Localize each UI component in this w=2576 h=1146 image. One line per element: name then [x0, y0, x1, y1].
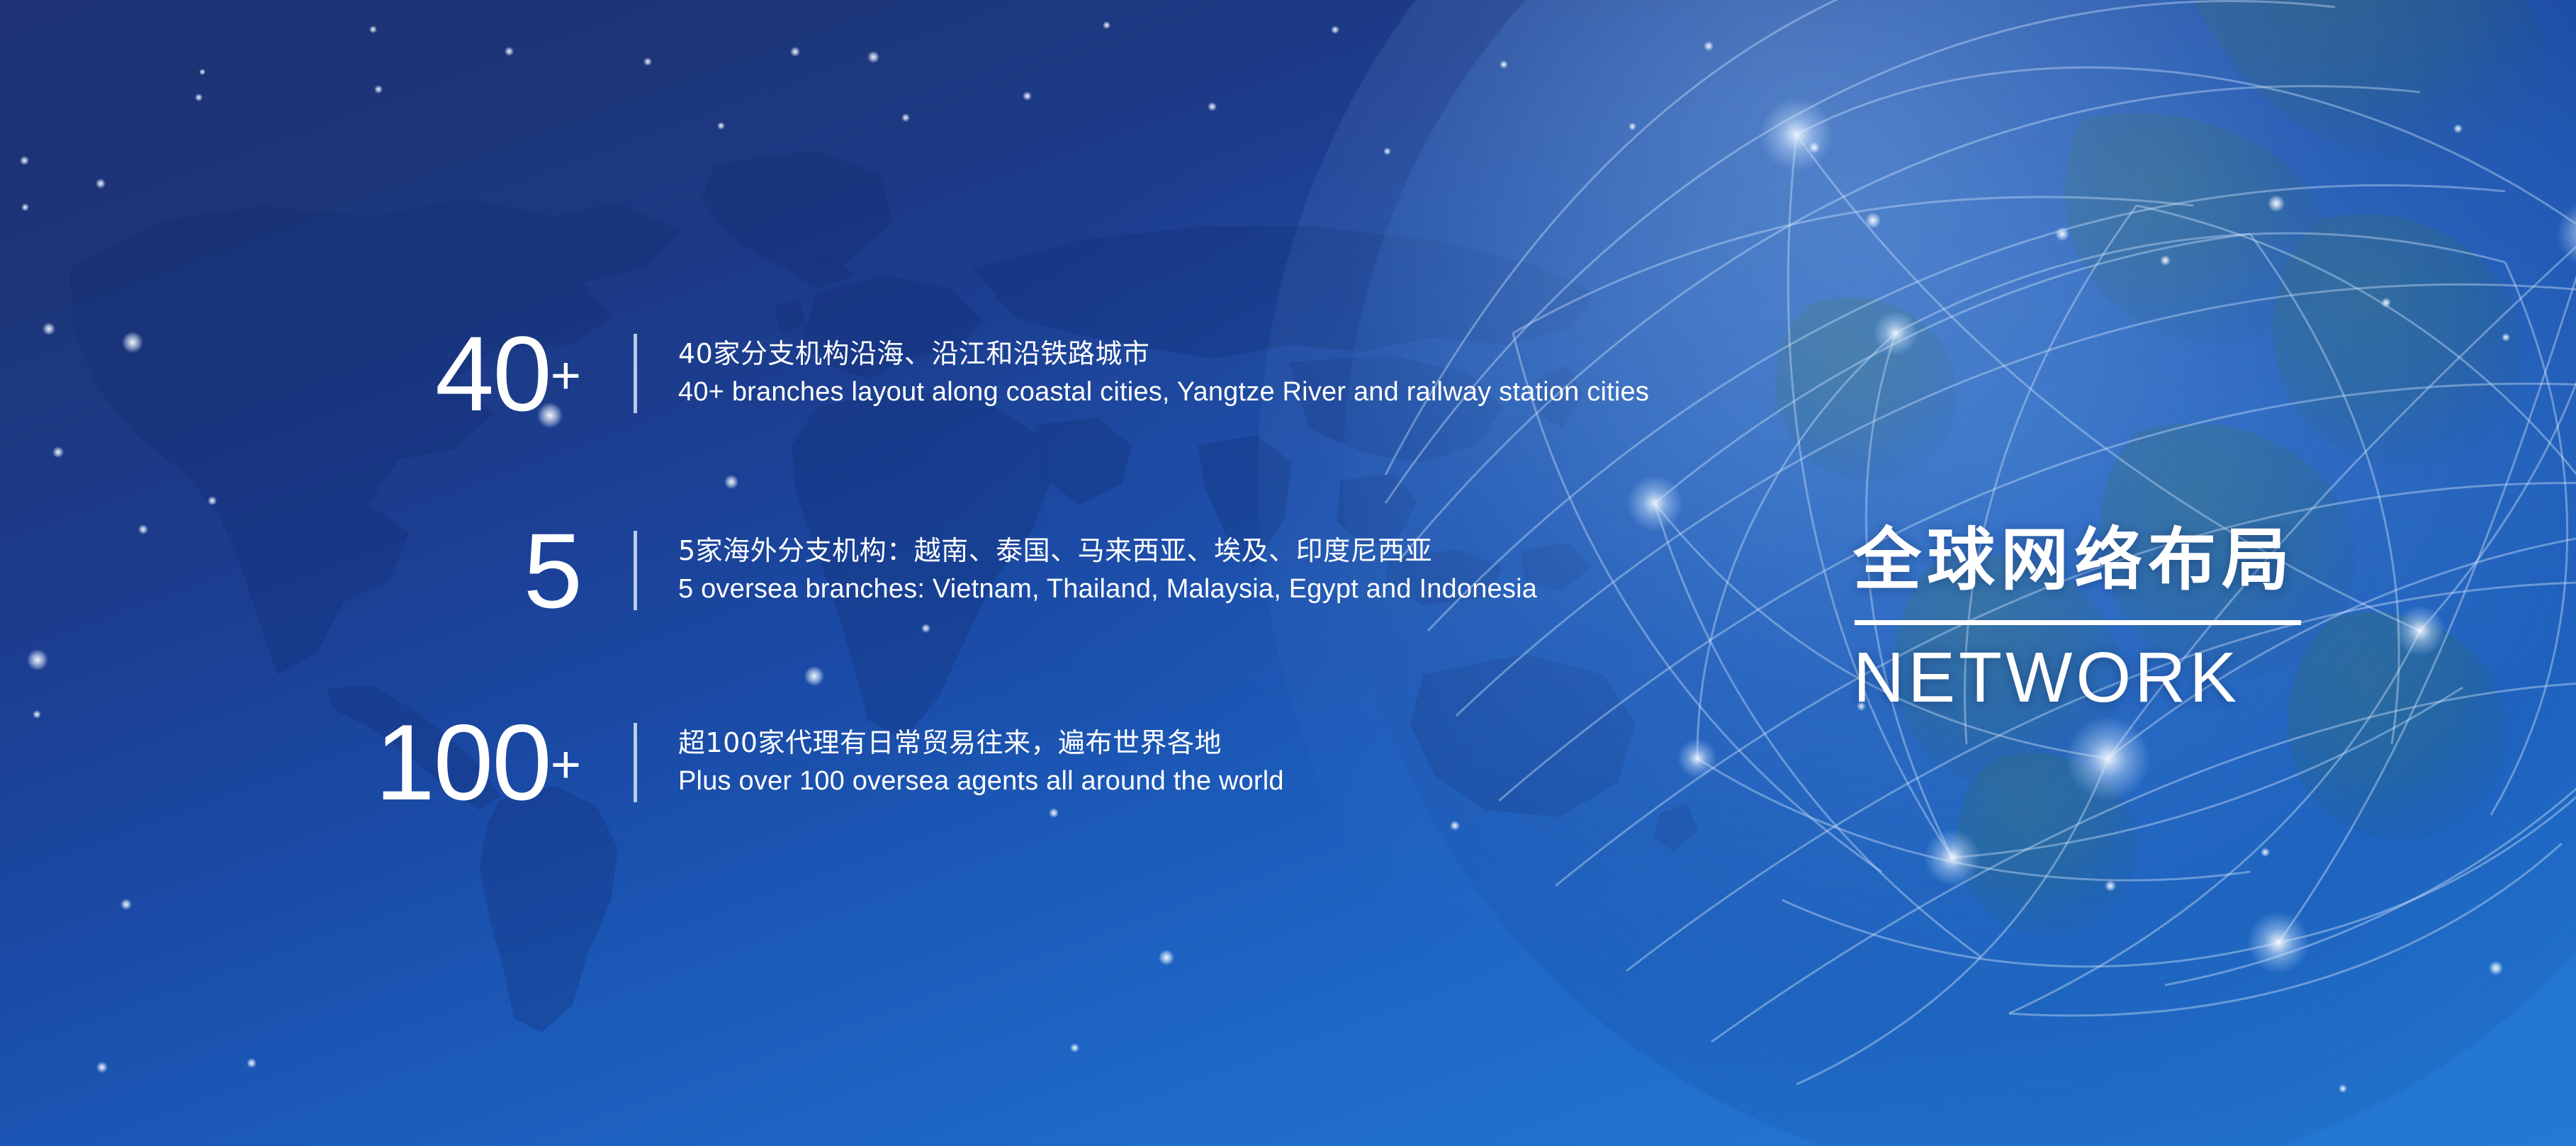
- banner-title-block: 全球网络布局 NETWORK: [1853, 524, 2491, 715]
- stat-text-en: 40+ branches layout along coastal cities…: [678, 373, 1649, 412]
- page-title-en: NETWORK: [1853, 641, 2491, 715]
- statistics-list: 40+ 40家分支机构沿海、沿江和沿铁路城市 40+ branches layo…: [0, 0, 1630, 1146]
- stat-text-oversea-branches: 5家海外分支机构：越南、泰国、马来西亚、埃及、印度尼西亚 5 oversea b…: [678, 532, 1537, 609]
- stat-number-5: 5: [149, 517, 581, 624]
- stat-item-oversea-branches: 5 5家海外分支机构：越南、泰国、马来西亚、埃及、印度尼西亚 5 oversea…: [149, 517, 1537, 624]
- stat-item-agents: 100+ 超100家代理有日常贸易往来，遍布世界各地 Plus over 100…: [149, 709, 1284, 816]
- stat-divider: [634, 531, 637, 610]
- stat-text-cn: 5家海外分支机构：越南、泰国、马来西亚、埃及、印度尼西亚: [678, 532, 1537, 571]
- stat-divider: [634, 723, 637, 802]
- page-title-cn: 全球网络布局: [1853, 524, 2491, 596]
- stat-number-40: 40+: [149, 320, 581, 427]
- title-rule: [1855, 620, 2301, 625]
- stat-number-suffix: +: [551, 346, 581, 405]
- stat-text-en: Plus over 100 oversea agents all around …: [678, 763, 1284, 801]
- stat-number-value: 40: [435, 314, 551, 433]
- stat-divider: [634, 334, 637, 413]
- stat-text-agents: 超100家代理有日常贸易往来，遍布世界各地 Plus over 100 over…: [678, 724, 1284, 801]
- stat-text-en: 5 oversea branches: Vietnam, Thailand, M…: [678, 571, 1537, 609]
- stat-number-value: 100: [375, 702, 551, 823]
- stat-text-cn: 超100家代理有日常贸易往来，遍布世界各地: [678, 724, 1284, 763]
- stat-text-branches: 40家分支机构沿海、沿江和沿铁路城市 40+ branches layout a…: [678, 335, 1649, 412]
- stat-item-branches: 40+ 40家分支机构沿海、沿江和沿铁路城市 40+ branches layo…: [149, 320, 1649, 427]
- global-network-banner: 40+ 40家分支机构沿海、沿江和沿铁路城市 40+ branches layo…: [0, 0, 2576, 1146]
- stat-number-value: 5: [524, 511, 581, 630]
- stat-number-suffix: +: [551, 735, 581, 794]
- stat-text-cn: 40家分支机构沿海、沿江和沿铁路城市: [678, 335, 1649, 373]
- stat-number-100: 100+: [149, 709, 581, 816]
